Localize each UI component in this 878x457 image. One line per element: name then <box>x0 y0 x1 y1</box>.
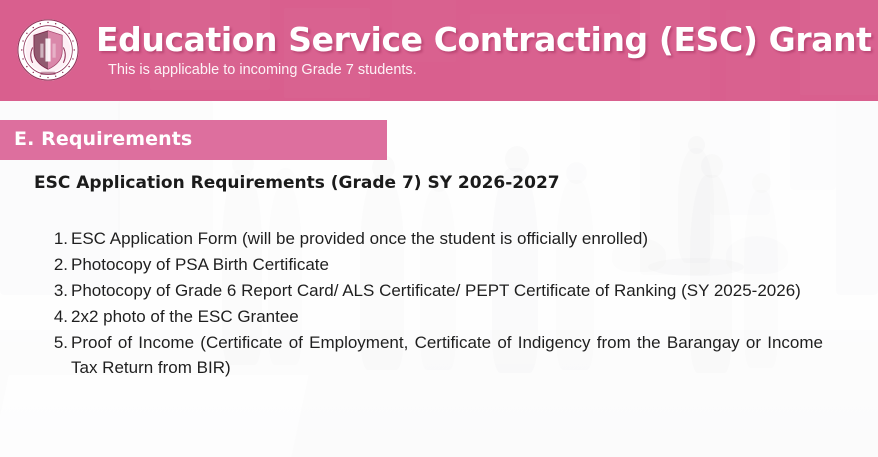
list-item-number: 2. <box>46 252 68 277</box>
slide-root: Education Service Contracting (ESC) Gran… <box>0 0 878 457</box>
list-item-text: Photocopy of Grade 6 Report Card/ ALS Ce… <box>68 278 823 303</box>
list-item-text: Photocopy of PSA Birth Certificate <box>68 252 846 277</box>
list-item-text: Proof of Income (Certificate of Employme… <box>68 330 823 380</box>
school-seal-logo-icon <box>16 18 80 82</box>
section-header-bar: E. Requirements <box>0 120 387 160</box>
header-banner: Education Service Contracting (ESC) Gran… <box>0 0 878 101</box>
content-heading: ESC Application Requirements (Grade 7) S… <box>34 173 560 193</box>
requirements-list: 1. ESC Application Form (will be provide… <box>46 226 846 381</box>
section-header-label: E. Requirements <box>14 128 192 150</box>
list-item: 5. Proof of Income (Certificate of Emplo… <box>46 330 846 380</box>
page-subtitle: This is applicable to incoming Grade 7 s… <box>108 62 417 78</box>
list-item-text: 2x2 photo of the ESC Grantee <box>68 304 846 329</box>
list-item: 4. 2x2 photo of the ESC Grantee <box>46 304 846 329</box>
list-item-number: 3. <box>46 278 68 303</box>
list-item-text: ESC Application Form (will be provided o… <box>68 226 846 251</box>
list-item-number: 1. <box>46 226 68 251</box>
list-item-number: 5. <box>46 330 68 355</box>
list-item: 2. Photocopy of PSA Birth Certificate <box>46 252 846 277</box>
page-title: Education Service Contracting (ESC) Gran… <box>96 20 872 59</box>
list-item-number: 4. <box>46 304 68 329</box>
list-item: 3. Photocopy of Grade 6 Report Card/ ALS… <box>46 278 846 303</box>
list-item: 1. ESC Application Form (will be provide… <box>46 226 846 251</box>
